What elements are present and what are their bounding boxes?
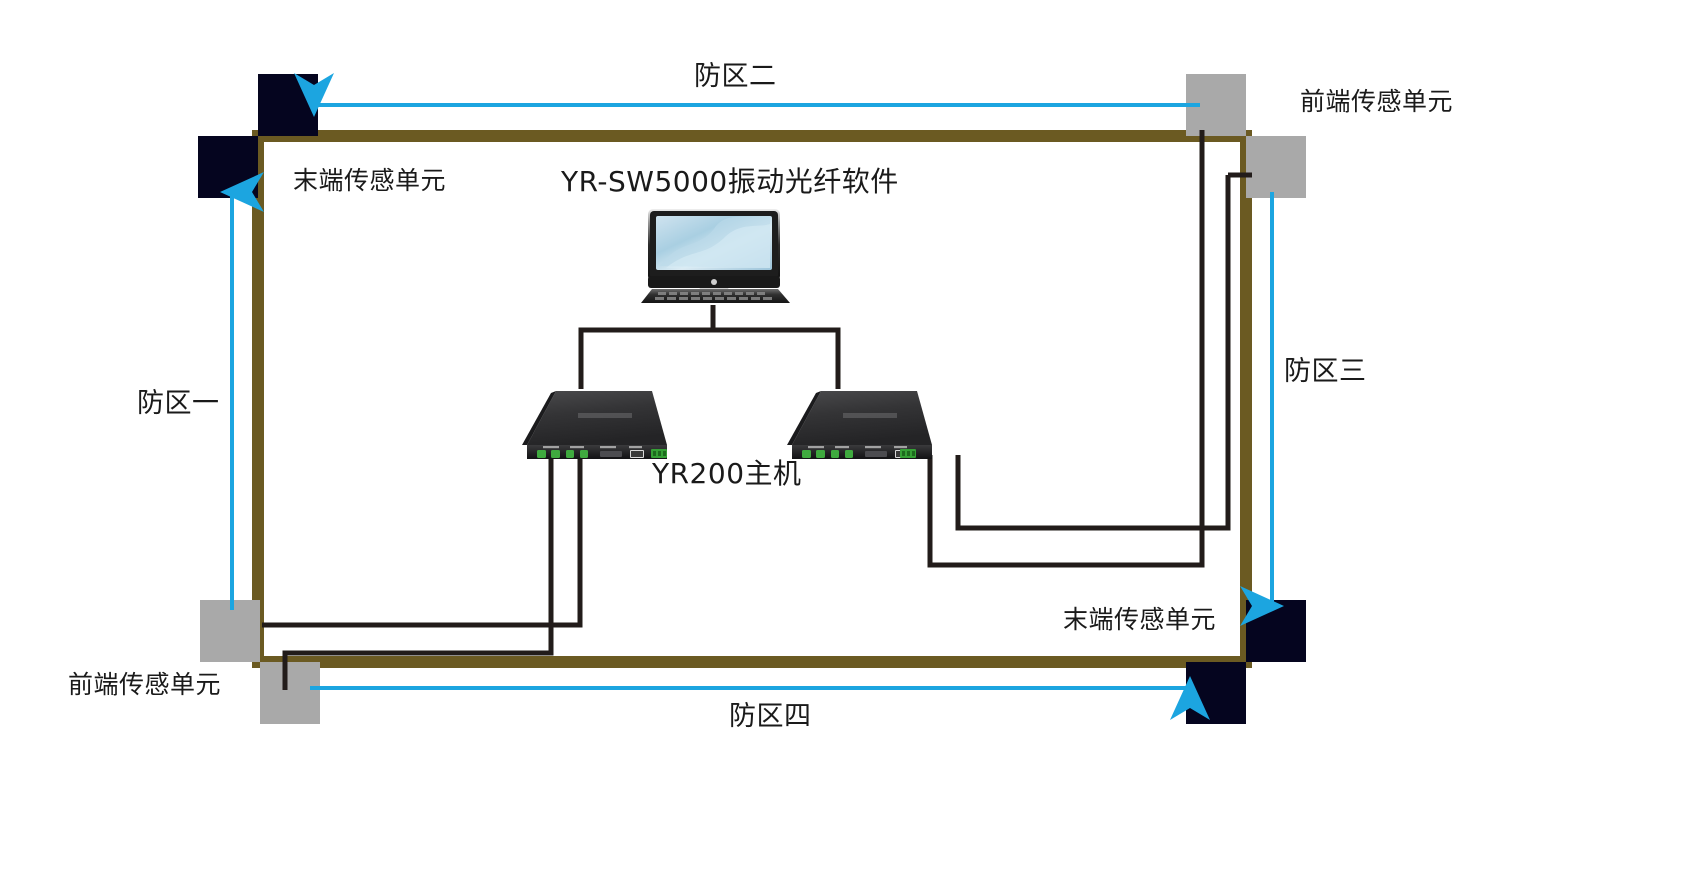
diagram-canvas: YR-SW5000振动光纤软件 YR200主机 防区二 防区一 防区三 防区四 … [0,0,1690,874]
zone-label-4: 防区四 [729,703,812,730]
page-title: YR-SW5000振动光纤软件 [561,168,899,196]
yr200-host-label: YR200主机 [652,460,802,488]
front-unit-label-top-right: 前端传感单元 [1300,89,1453,114]
front-unit-label-bottom-left: 前端传感单元 [68,672,221,697]
cable-pc-to-left-host [581,305,713,389]
cable-left-host-a [285,455,551,690]
end-unit-left-block [198,136,258,198]
end-unit-bottom-block [1186,662,1246,724]
topology-svg [0,0,1690,874]
cable-right-host-a [930,140,1202,565]
brand-logo-dot [711,279,717,285]
end-unit-label-top: 末端传感单元 [293,168,446,193]
cable-pc-to-right-host [713,305,838,389]
cable-right-host-b [958,175,1228,528]
yr200-host-right [787,391,932,459]
front-unit-bottom-block [260,662,320,724]
zone-label-2: 防区二 [694,63,777,90]
cable-left-host-b [262,455,580,625]
end-unit-bottom-right-block [1246,600,1306,662]
zone-label-3: 防区三 [1284,358,1367,385]
zone-label-1: 防区一 [137,390,220,417]
end-unit-top-block [258,74,318,136]
front-unit-right-block [1246,136,1306,198]
keyboard [641,289,790,303]
yr200-host-left [522,391,667,459]
end-unit-label-bottom-right: 末端传感单元 [1063,607,1216,632]
yr-sw5000-workstation [641,209,790,303]
